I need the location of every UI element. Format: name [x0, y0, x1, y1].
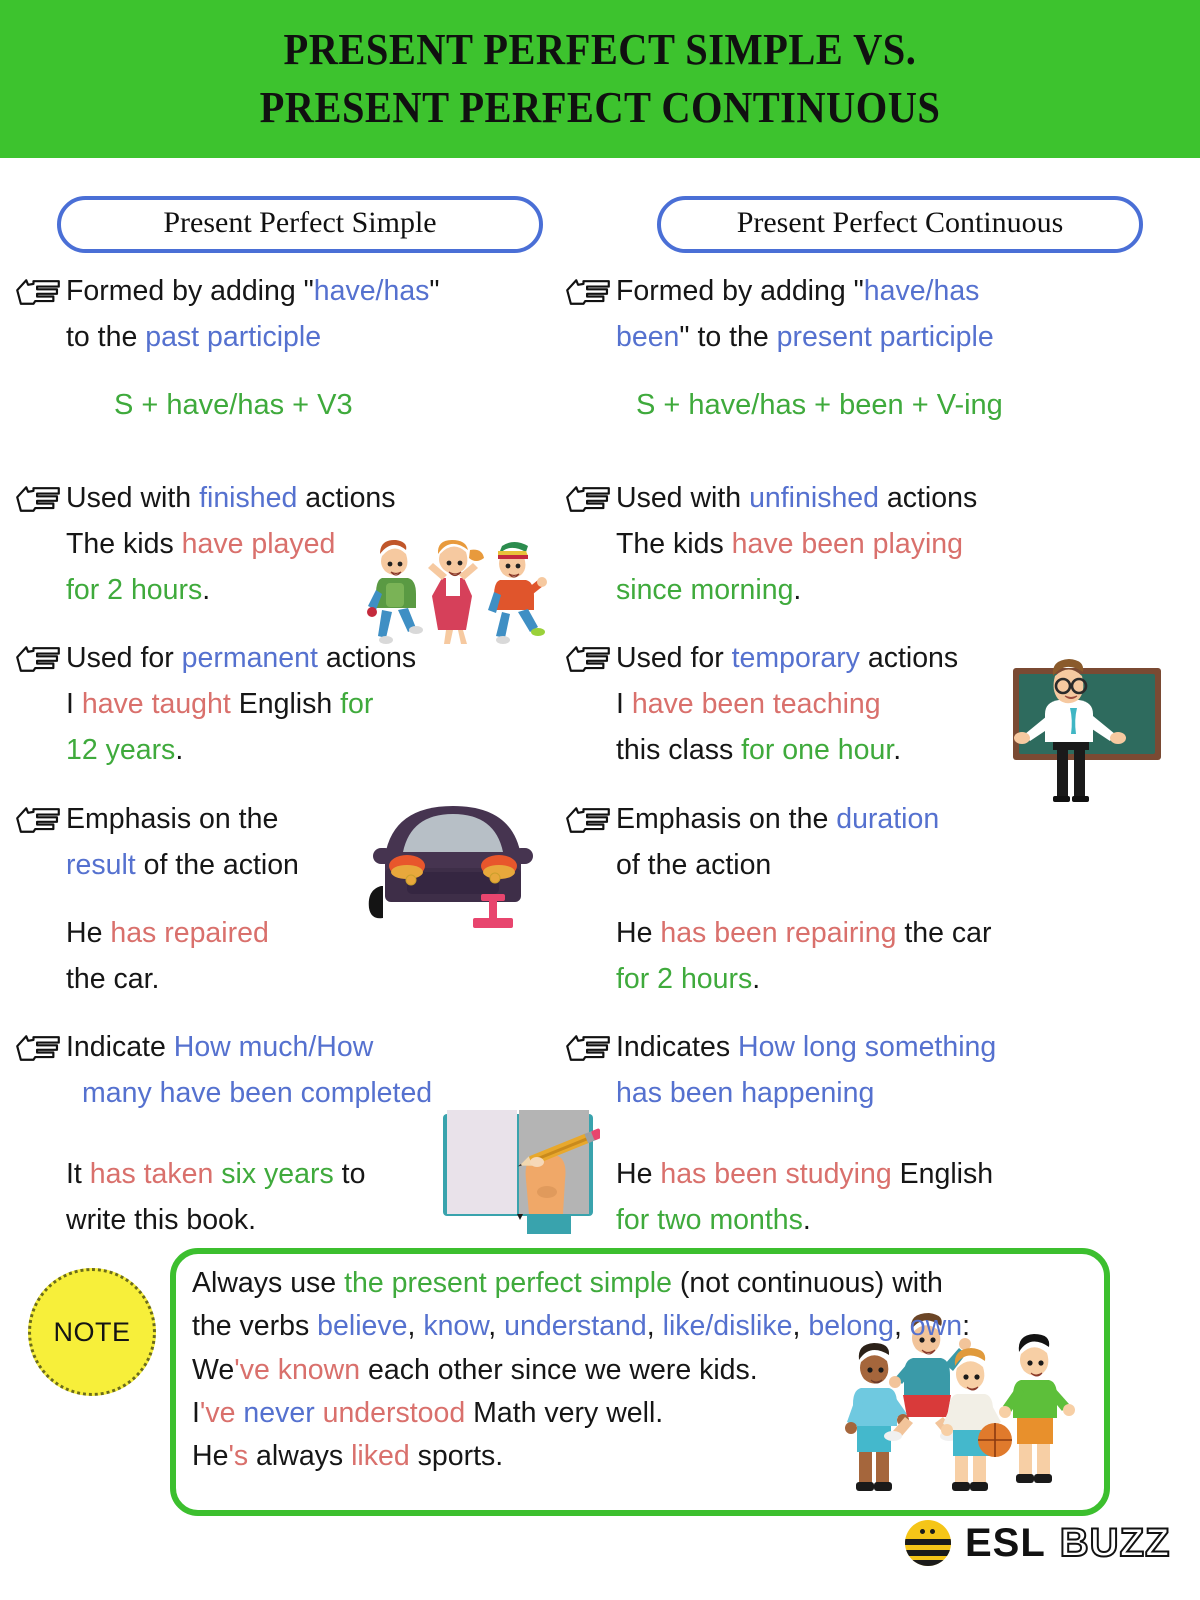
bullet-formation-simple-line1: Formed by adding "have/has": [66, 268, 440, 314]
bullet-permanent-actions: Used for permanent actions I have taught…: [10, 635, 590, 773]
bullet-temporary-actions-label: Used for temporary actions: [616, 635, 958, 681]
bullet-formation-continuous-line2: been" to the present participle: [560, 314, 1140, 360]
bullet-finished-actions-label: Used with finished actions: [66, 475, 396, 521]
comparison-columns: Formed by adding "have/has" to the past …: [0, 268, 1200, 1248]
pointing-hand-icon: [560, 1028, 616, 1068]
example-kids-playing-line1: The kids have been playing: [560, 521, 1140, 567]
bullet-emphasis-duration-line2: of the action: [560, 842, 1140, 888]
logo-text-esl: ESL: [965, 1521, 1046, 1566]
note-line-5: He's always liked sports.: [192, 1435, 1082, 1478]
bullet-emphasis-duration: Emphasis on the duration of the action H…: [560, 796, 1140, 1003]
bullet-emphasis-result-line1: Emphasis on the: [66, 796, 278, 842]
infographic-page: PRESENT PERFECT SIMPLE VS. PRESENT PERFE…: [0, 0, 1200, 1600]
note-text: Always use the present perfect simple (n…: [192, 1262, 1082, 1479]
left-heading-cell: Present Perfect Simple: [0, 196, 600, 253]
kids-playing-illustration: [352, 528, 567, 648]
bullet-unfinished-actions-label: Used with unfinished actions: [616, 475, 977, 521]
open-book-writing-illustration: [435, 1100, 600, 1240]
pointing-hand-icon: [10, 639, 66, 679]
eslbuzz-logo[interactable]: ESL BUZZ: [905, 1520, 1170, 1566]
example-kids-playing-line2: since morning.: [560, 567, 1140, 613]
example-taught-english-line2: 12 years.: [10, 727, 590, 773]
example-studying-english-line2: for two months.: [560, 1197, 1140, 1243]
note-line-2: the verbs believe, know, understand, lik…: [192, 1305, 1082, 1348]
car-front-illustration: [345, 786, 560, 936]
pointing-hand-icon: [560, 479, 616, 519]
teacher-chalkboard-illustration: [985, 658, 1165, 803]
right-heading-cell: Present Perfect Continuous: [600, 196, 1200, 253]
pointing-hand-icon: [10, 479, 66, 519]
example-repairing-car-line2: for 2 hours.: [560, 956, 1140, 1002]
pointing-hand-icon: [560, 639, 616, 679]
pointing-hand-icon: [560, 272, 616, 312]
heading-present-perfect-continuous: Present Perfect Continuous: [657, 196, 1143, 253]
page-title-line-1: PRESENT PERFECT SIMPLE VS.: [284, 24, 917, 76]
bullet-how-long-line1: Indicates How long something: [616, 1024, 996, 1070]
pointing-hand-icon: [10, 1028, 66, 1068]
bullet-how-much-many-line1: Indicate How much/How: [66, 1024, 373, 1070]
column-present-perfect-simple: Formed by adding "have/has" to the past …: [10, 268, 590, 1243]
bullet-emphasis-duration-line1: Emphasis on the duration: [616, 796, 939, 842]
logo-text-buzz: BUZZ: [1060, 1521, 1171, 1566]
example-repaired-car-line2: the car.: [10, 956, 590, 1002]
example-studying-english-line1: He has been studying English: [560, 1151, 1140, 1197]
example-repairing-car-line1: He has been repairing the car: [560, 910, 1140, 956]
example-taught-english-line1: I have taught English for: [10, 681, 590, 727]
note-section: Always use the present perfect simple (n…: [170, 1248, 1110, 1516]
column-headings: Present Perfect Simple Present Perfect C…: [0, 196, 1200, 253]
heading-present-perfect-simple: Present Perfect Simple: [57, 196, 543, 253]
formula-simple: S + have/has + V3: [10, 382, 590, 428]
bullet-how-long: Indicates How long something has been ha…: [560, 1024, 1140, 1243]
bullet-unfinished-actions: Used with unfinished actions The kids ha…: [560, 475, 1140, 613]
pointing-hand-icon: [10, 272, 66, 312]
bullet-formation-simple: Formed by adding "have/has" to the past …: [10, 268, 590, 360]
formula-continuous: S + have/has + been + V-ing: [560, 382, 1140, 428]
pointing-hand-icon: [10, 800, 66, 840]
note-line-1: Always use the present perfect simple (n…: [192, 1262, 1082, 1305]
pointing-hand-icon: [560, 800, 616, 840]
bee-logo-icon: [905, 1520, 951, 1566]
bullet-how-long-line2: has been happening: [560, 1070, 1140, 1116]
bullet-formation-continuous: Formed by adding "have/has been" to the …: [560, 268, 1140, 360]
note-line-3: We've known each other since we were kid…: [192, 1349, 1082, 1392]
bullet-formation-simple-line2: to the past participle: [10, 314, 590, 360]
bullet-formation-continuous-line1: Formed by adding "have/has: [616, 268, 979, 314]
page-title-line-2: PRESENT PERFECT CONTINUOUS: [260, 82, 941, 134]
header-banner: PRESENT PERFECT SIMPLE VS. PRESENT PERFE…: [0, 0, 1200, 158]
note-line-4: I've never understood Math very well.: [192, 1392, 1082, 1435]
note-badge: NOTE: [28, 1268, 156, 1396]
